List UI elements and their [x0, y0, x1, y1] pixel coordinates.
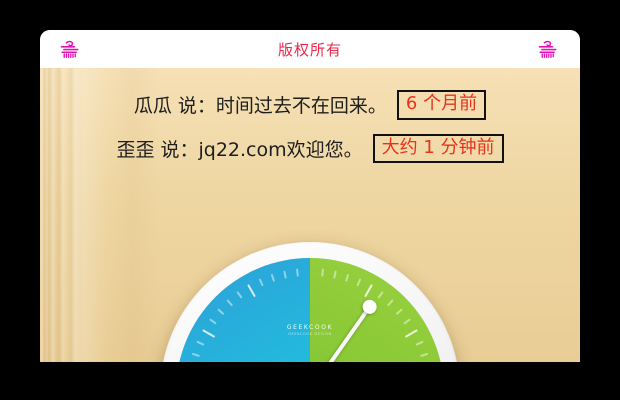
clock-brand: GEEKCOOK GEEKCOOK DESIGN	[176, 324, 444, 336]
message-text: 歪歪 说：jq22.com欢迎您。	[116, 135, 362, 162]
header-bar: 版权所有	[40, 30, 580, 68]
list-item: 瓜瓜 说：时间过去不在回来。 6 个月前	[40, 90, 580, 120]
wind-icon[interactable]	[58, 38, 84, 60]
status-badge[interactable]: 大约 1 分钟前	[373, 134, 504, 164]
clock-brand-name: GEEKCOOK	[287, 324, 333, 331]
page-title: 版权所有	[278, 39, 342, 60]
content-area: 瓜瓜 说：时间过去不在回来。 6 个月前 歪歪 说：jq22.com欢迎您。 大…	[40, 68, 580, 362]
screen: 版权所有	[0, 0, 620, 400]
clock-face-left-half	[176, 258, 310, 362]
clock-face-right-half	[310, 258, 444, 362]
clock-face: GEEKCOOK GEEKCOOK DESIGN	[176, 258, 444, 362]
list-item: 歪歪 说：jq22.com欢迎您。 大约 1 分钟前	[40, 134, 580, 164]
message-text: 瓜瓜 说：时间过去不在回来。	[134, 91, 387, 118]
message-list: 瓜瓜 说：时间过去不在回来。 6 个月前 歪歪 说：jq22.com欢迎您。 大…	[40, 68, 580, 163]
analog-clock: GEEKCOOK GEEKCOOK DESIGN	[160, 242, 460, 362]
status-badge[interactable]: 6 个月前	[397, 90, 486, 120]
clock-brand-subtitle: GEEKCOOK DESIGN	[176, 332, 444, 336]
app-card: 版权所有	[40, 30, 580, 362]
wind-icon[interactable]	[536, 38, 562, 60]
